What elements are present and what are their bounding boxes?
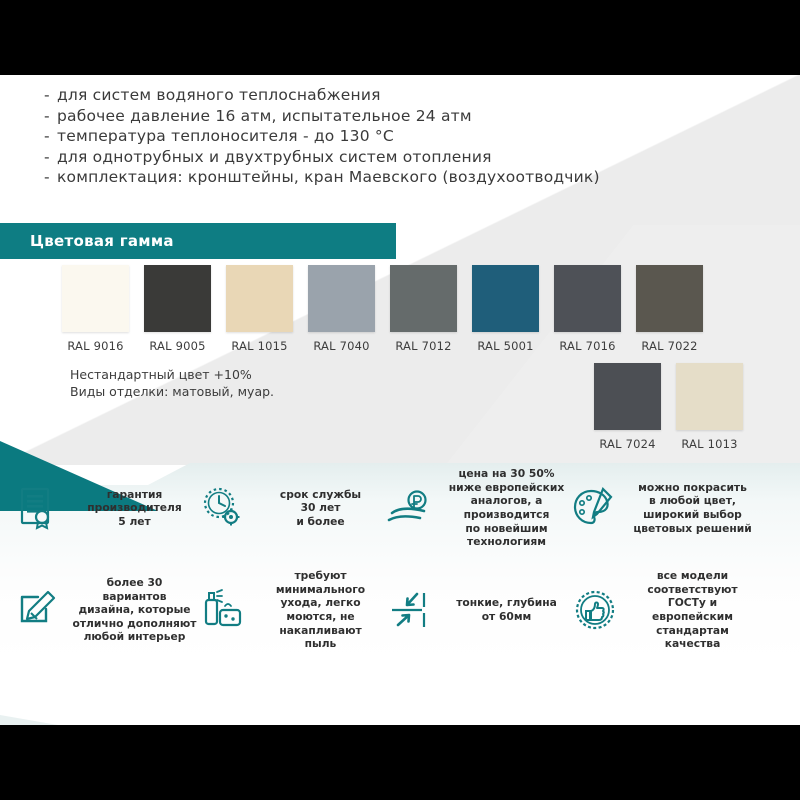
page-title: Цветовая гамма xyxy=(30,232,174,250)
list-item: -рабочее давление 16 атм, испытательное … xyxy=(44,106,600,127)
feature-price: цена на 30 50%ниже европейскиханалогов, … xyxy=(386,465,572,551)
feature-label: все моделисоответствуютГОСТу и европейск… xyxy=(627,569,758,651)
swatch-row-secondary: RAL 7024RAL 1013 xyxy=(594,363,743,451)
color-gamut-banner: Цветовая гамма xyxy=(0,223,396,259)
swatch-label: RAL 5001 xyxy=(472,339,539,353)
color-swatch: RAL 1013 xyxy=(676,363,743,451)
certificate-icon xyxy=(14,486,60,530)
color-swatch: RAL 7012 xyxy=(390,265,457,353)
swatch-chip xyxy=(554,265,621,332)
feature-standards: все моделисоответствуютГОСТу и европейск… xyxy=(572,567,758,653)
feature-label: тонкие, глубинаот 60мм xyxy=(441,596,572,623)
color-swatch: RAL 7040 xyxy=(308,265,375,353)
specs-bullet-list: -для систем водяного теплоснабжения -раб… xyxy=(44,85,600,188)
swatch-chip xyxy=(472,265,539,332)
palette-icon xyxy=(572,487,618,529)
swatch-label: RAL 1013 xyxy=(676,437,743,451)
color-swatch: RAL 7022 xyxy=(636,265,703,353)
feature-label: требуютминимальногоухода, легкомоются, н… xyxy=(255,569,386,651)
color-swatch: RAL 9016 xyxy=(62,265,129,353)
bullet-dash: - xyxy=(44,126,57,147)
list-item: -для систем водяного теплоснабжения xyxy=(44,85,600,106)
clock-gear-icon xyxy=(200,486,246,530)
bullet-dash: - xyxy=(44,106,57,127)
spray-sponge-icon xyxy=(200,588,246,632)
swatch-chip xyxy=(62,265,129,332)
slide-canvas: -для систем водяного теплоснабжения -раб… xyxy=(0,75,800,725)
bullet-dash: - xyxy=(44,85,57,106)
swatch-label: RAL 7022 xyxy=(636,339,703,353)
feature-service-life: срок службы30 лети более xyxy=(200,465,386,551)
swatch-chip xyxy=(676,363,743,430)
swatch-chip xyxy=(390,265,457,332)
feature-label: более 30вариантовдизайна, которыеотлично… xyxy=(69,576,200,644)
swatch-chip xyxy=(308,265,375,332)
swatch-chip xyxy=(226,265,293,332)
bullet-dash: - xyxy=(44,167,57,188)
thumbs-up-badge-icon xyxy=(572,588,618,632)
note-line: Виды отделки: матовый, муар. xyxy=(70,383,274,400)
swatch-label: RAL 1015 xyxy=(226,339,293,353)
features-row-one: гарантияпроизводителя5 лет xyxy=(0,465,800,551)
color-swatch: RAL 1015 xyxy=(226,265,293,353)
swatch-label: RAL 9005 xyxy=(144,339,211,353)
pencil-design-icon xyxy=(14,589,60,631)
features-row-two: более 30вариантовдизайна, которыеотлично… xyxy=(0,551,800,653)
feature-label: гарантияпроизводителя5 лет xyxy=(69,488,200,529)
list-item: -температура теплоносителя - до 130 °С xyxy=(44,126,600,147)
feature-slim-depth: тонкие, глубинаот 60мм xyxy=(386,567,572,653)
swatch-label: RAL 7024 xyxy=(594,437,661,451)
feature-easy-care: требуютминимальногоухода, легкомоются, н… xyxy=(200,567,386,653)
color-swatch: RAL 7024 xyxy=(594,363,661,451)
arrows-inward-icon xyxy=(386,590,432,630)
feature-label: можно покраситьв любой цвет,широкий выбо… xyxy=(627,481,758,535)
swatch-chip xyxy=(636,265,703,332)
feature-label: цена на 30 50%ниже европейскиханалогов, … xyxy=(441,467,572,549)
color-swatch: RAL 9005 xyxy=(144,265,211,353)
feature-label: срок службы30 лети более xyxy=(255,488,386,529)
finish-notes: Нестандартный цвет +10% Виды отделки: ма… xyxy=(70,366,274,400)
features-section: гарантияпроизводителя5 лет xyxy=(0,465,800,653)
swatch-label: RAL 9016 xyxy=(62,339,129,353)
swatch-row-primary: RAL 9016RAL 9005RAL 1015RAL 7040RAL 7012… xyxy=(62,265,703,353)
swatch-label: RAL 7012 xyxy=(390,339,457,353)
feature-designs: более 30вариантовдизайна, которыеотлично… xyxy=(14,567,200,653)
swatch-label: RAL 7016 xyxy=(554,339,621,353)
swatch-chip xyxy=(594,363,661,430)
list-item: -комплектация: кронштейны, кран Маевског… xyxy=(44,167,600,188)
swatch-label: RAL 7040 xyxy=(308,339,375,353)
list-item: -для однотрубных и двухтрубных систем от… xyxy=(44,147,600,168)
hand-ruble-icon xyxy=(386,488,432,528)
feature-warranty: гарантияпроизводителя5 лет xyxy=(14,465,200,551)
feature-paintable: можно покраситьв любой цвет,широкий выбо… xyxy=(572,465,758,551)
bullet-dash: - xyxy=(44,147,57,168)
swatch-chip xyxy=(144,265,211,332)
color-swatch: RAL 7016 xyxy=(554,265,621,353)
color-swatch: RAL 5001 xyxy=(472,265,539,353)
note-line: Нестандартный цвет +10% xyxy=(70,366,274,383)
